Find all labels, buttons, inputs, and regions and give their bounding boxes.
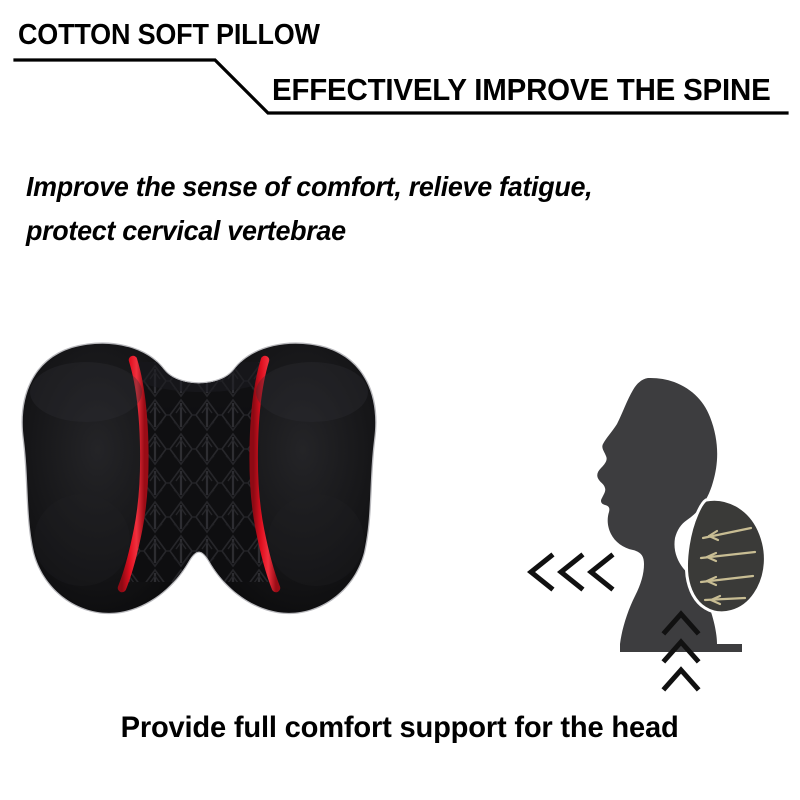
product-image-pillow bbox=[12, 330, 388, 630]
bottom-caption: Provide full comfort support for the hea… bbox=[0, 708, 800, 748]
bottom-caption-text: Provide full comfort support for the hea… bbox=[121, 708, 679, 748]
benefit-statement: Improve the sense of comfort, relieve fa… bbox=[26, 165, 756, 253]
page-subtitle-headline: EFFECTIVELY IMPROVE THE SPINE bbox=[272, 72, 771, 108]
benefit-line-1: Improve the sense of comfort, relieve fa… bbox=[26, 165, 756, 209]
chevrons-left bbox=[531, 556, 611, 588]
product-infographic: COTTON SOFT PILLOW EFFECTIVELY IMPROVE T… bbox=[0, 0, 800, 800]
page-title: COTTON SOFT PILLOW bbox=[18, 18, 320, 52]
benefit-line-2: protect cervical vertebrae bbox=[26, 209, 756, 253]
head-support-diagram bbox=[505, 360, 795, 700]
